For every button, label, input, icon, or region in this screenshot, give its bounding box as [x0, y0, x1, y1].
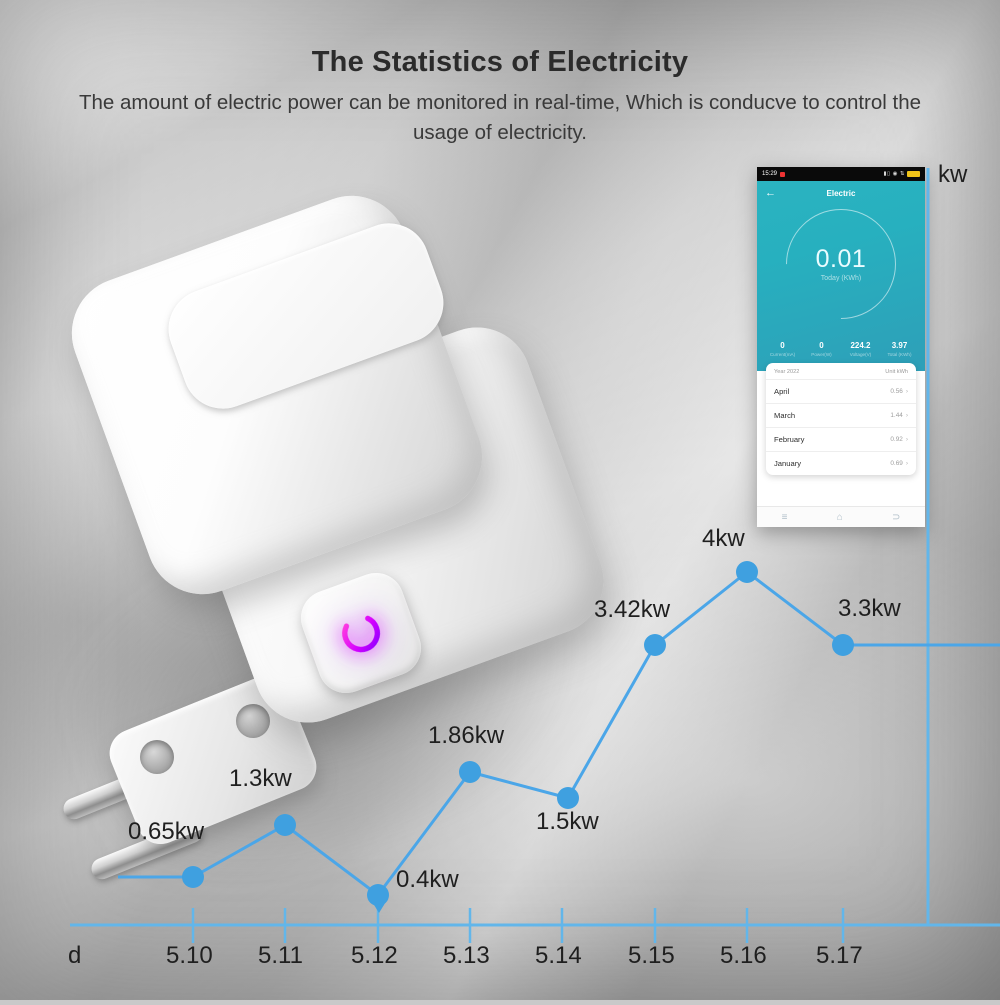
x-tick-6: 5.16	[720, 942, 767, 970]
chart-svg	[0, 0, 1000, 1000]
data-point[interactable]	[736, 561, 758, 583]
x-tick-3: 5.13	[443, 942, 490, 970]
point-label-6: 4kw	[702, 525, 745, 553]
series-line	[193, 572, 843, 895]
axis-caret-icon	[371, 900, 387, 913]
point-label-3: 1.86kw	[428, 722, 504, 750]
data-point[interactable]	[832, 634, 854, 656]
x-axis-unit-label: d	[68, 942, 81, 970]
data-point[interactable]	[182, 866, 204, 888]
point-label-2: 0.4kw	[396, 866, 459, 894]
data-point[interactable]	[274, 814, 296, 836]
x-tick-7: 5.17	[816, 942, 863, 970]
x-tick-1: 5.11	[258, 942, 303, 970]
point-label-5: 3.42kw	[594, 596, 670, 624]
electricity-line-chart: 0.65kw 1.3kw 0.4kw 1.86kw 1.5kw 3.42kw 4…	[0, 0, 1000, 1000]
series-markers	[182, 561, 854, 906]
y-axis-unit-label: kw	[938, 161, 967, 189]
data-point[interactable]	[459, 761, 481, 783]
point-label-0: 0.65kw	[128, 818, 204, 846]
data-point[interactable]	[644, 634, 666, 656]
point-label-7: 3.3kw	[838, 595, 901, 623]
x-tick-0: 5.10	[166, 942, 213, 970]
point-label-1: 1.3kw	[229, 765, 292, 793]
point-label-4: 1.5kw	[536, 808, 599, 836]
x-tick-4: 5.14	[535, 942, 582, 970]
x-tick-5: 5.15	[628, 942, 675, 970]
data-point[interactable]	[557, 787, 579, 809]
x-tick-2: 5.12	[351, 942, 398, 970]
